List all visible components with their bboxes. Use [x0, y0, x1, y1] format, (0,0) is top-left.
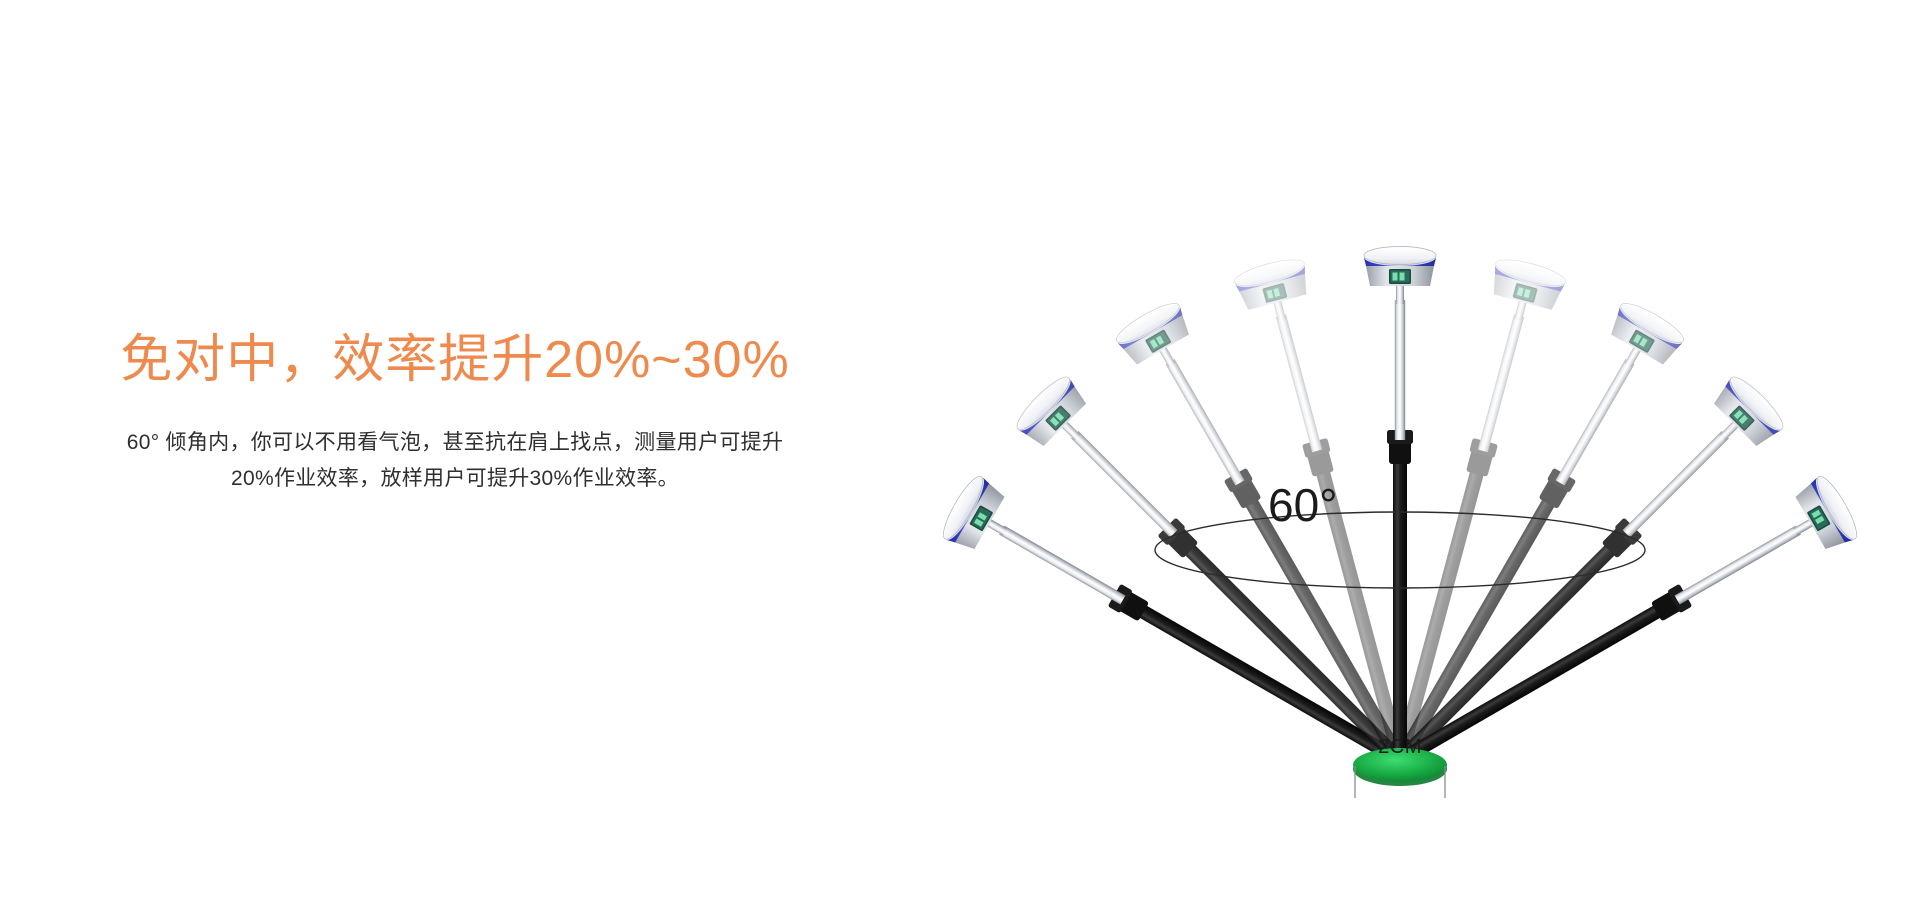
description-line-1: 60° 倾角内，你可以不用看气泡，甚至抗在肩上找点，测量用户可提升 [82, 425, 828, 461]
accuracy-label: 2CM [1378, 736, 1422, 759]
description-line-2: 20%作业效率，放样用户可提升30%作业效率。 [82, 461, 828, 497]
pole-left-3 [1011, 371, 1425, 785]
feature-text-panel: 免对中，效率提升20%~30% 60° 倾角内，你可以不用看气泡，甚至抗在肩上找… [60, 330, 850, 498]
tilt-compensation-diagram: 60° 2CM [880, 60, 1920, 860]
pole-right-3 [1375, 371, 1789, 785]
pole-group [937, 247, 1862, 792]
tilt-angle-label: 60° [1268, 478, 1338, 532]
feature-description: 60° 倾角内，你可以不用看气泡，甚至抗在肩上找点，测量用户可提升 20%作业效… [60, 425, 850, 497]
page-title: 免对中，效率提升20%~30% [60, 330, 850, 391]
